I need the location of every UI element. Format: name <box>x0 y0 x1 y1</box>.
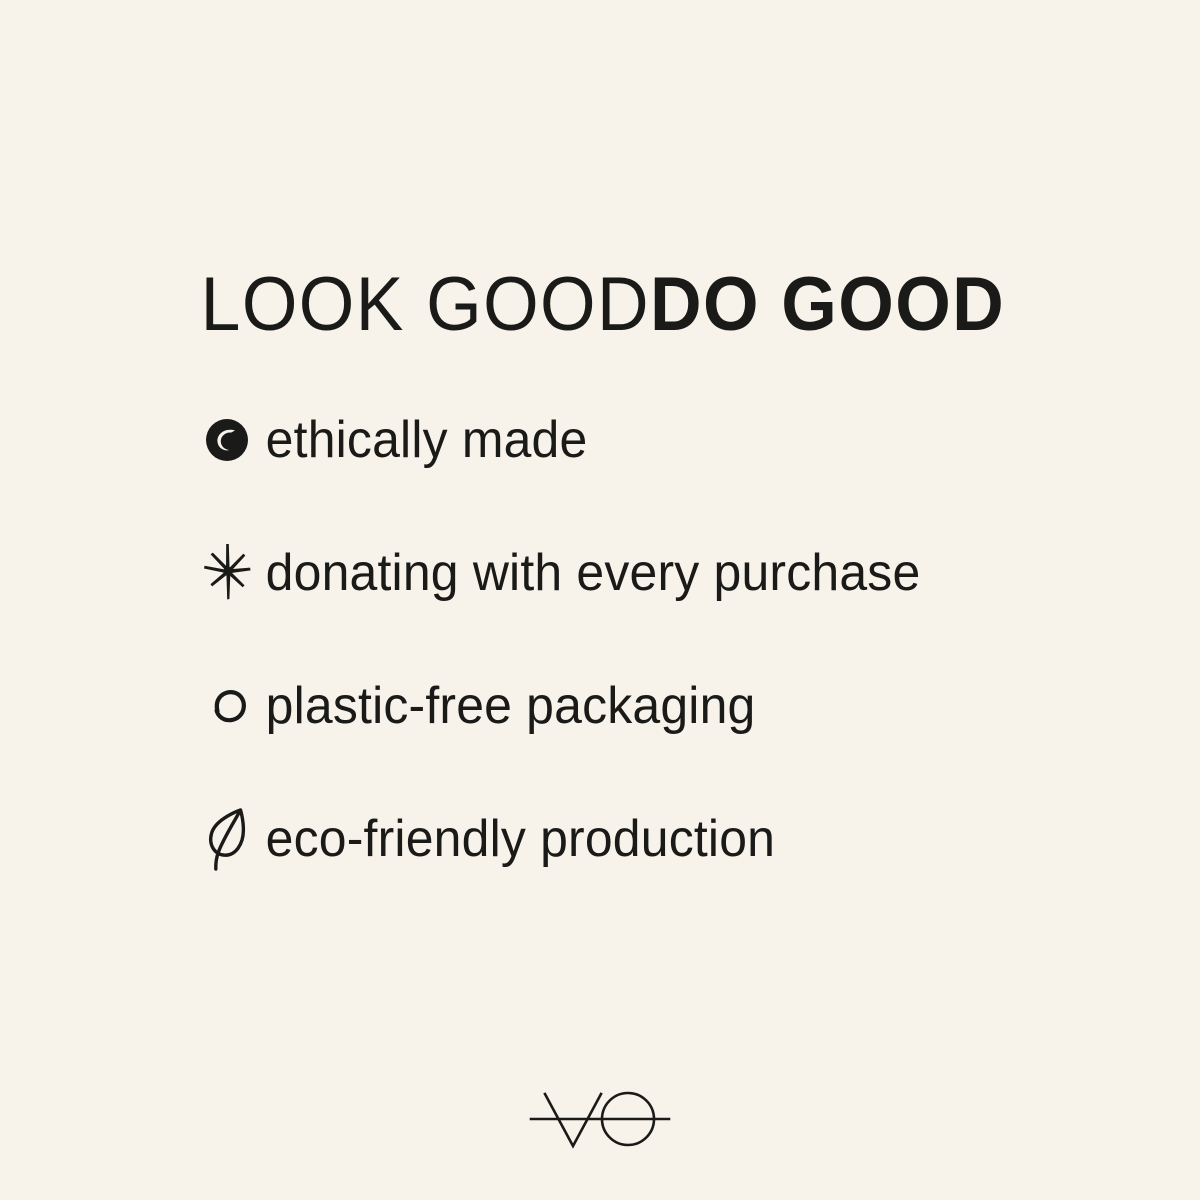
list-item: plastic-free packaging <box>196 672 1116 740</box>
list-item: ethically made <box>196 406 1116 474</box>
brand-values-list: ethically made <box>196 406 1116 873</box>
list-item-label: plastic-free packaging <box>258 680 756 732</box>
open-circle-icon <box>196 672 258 740</box>
list-item-label: donating with every purchase <box>258 547 920 599</box>
swirl-circle-icon <box>196 406 258 474</box>
list-item-label: eco-friendly production <box>258 813 775 865</box>
list-item: donating with every purchase <box>196 539 1116 607</box>
page-title: LOOK GOODDO GOOD <box>0 267 1200 343</box>
list-item: eco-friendly production <box>196 805 1116 873</box>
page-title-bold: DO GOOD <box>650 267 1005 343</box>
sparkle-asterisk-icon <box>196 539 258 607</box>
list-item-label: ethically made <box>258 414 587 466</box>
promo-card: LOOK GOODDO GOOD ethically made <box>0 0 1200 1200</box>
leaf-icon <box>196 805 258 873</box>
brand-logo <box>0 1086 1200 1152</box>
page-title-light: LOOK GOOD <box>201 267 650 343</box>
